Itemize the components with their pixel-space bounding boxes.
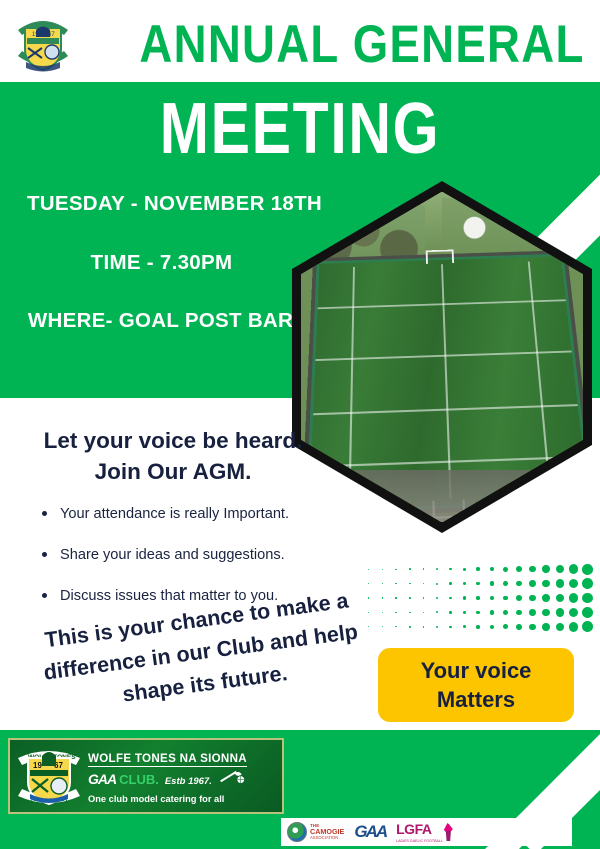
halftone-dot — [423, 597, 425, 599]
svg-text:19: 19 — [33, 761, 42, 770]
page-title-line1: ANNUAL GENERAL — [139, 18, 500, 72]
halftone-dot — [449, 611, 452, 614]
sponsor-lgfa-sub: LADIES GAELIC FOOTBALL — [396, 839, 443, 843]
halftone-dot — [423, 568, 425, 570]
halftone-dot — [409, 568, 411, 570]
halftone-dot — [368, 626, 369, 627]
halftone-dot — [409, 583, 411, 585]
cta-line-1: Your voice — [421, 656, 532, 685]
sponsor-lgfa-label: LGFA — [396, 821, 431, 837]
halftone-dot — [382, 626, 383, 627]
camogie-icon — [287, 822, 307, 842]
halftone-dot — [395, 583, 396, 584]
halftone-dot — [463, 611, 466, 614]
halftone-dot — [476, 611, 480, 615]
halftone-dot — [449, 568, 452, 571]
halftone-dot — [542, 623, 549, 630]
halftone-dot — [490, 581, 494, 585]
halftone-dot — [382, 569, 383, 570]
halftone-dot — [463, 596, 466, 599]
gaa-wordmark: GAA — [88, 771, 116, 787]
halftone-dot — [436, 611, 438, 613]
halftone-dot — [490, 567, 494, 571]
halftone-dot — [556, 623, 564, 631]
halftone-dot — [409, 597, 411, 599]
lead-line-1: Let your voice be heard. — [8, 425, 338, 456]
halftone-dot — [436, 583, 438, 585]
halftone-dot — [516, 595, 522, 601]
halftone-dot — [542, 580, 549, 587]
agm-poster: 19 67 ANNUAL GENERAL MEETING TUESDAY - N… — [0, 0, 600, 849]
halftone-dot — [529, 609, 536, 616]
wolfe-tones-crest-icon: 19 67 — [12, 8, 74, 78]
hurley-and-sliotar-icon — [217, 770, 247, 789]
sponsor-gaa-label: GAA — [354, 822, 386, 842]
halftone-dot — [569, 593, 579, 603]
halftone-dot — [449, 597, 452, 600]
halftone-dot — [409, 612, 411, 614]
halftone-dot — [529, 566, 536, 573]
halftone-dot — [423, 583, 425, 585]
svg-text:19: 19 — [32, 32, 39, 38]
your-voice-matters-badge: Your voice Matters — [378, 648, 574, 722]
lead-line-2: Join Our AGM. — [8, 456, 338, 487]
list-item: Your attendance is really Important. — [38, 505, 358, 523]
wolfe-tones-crest-icon: WOLFE TONES NA SIONNA 19 67 — [12, 742, 86, 810]
halftone-dot — [582, 621, 593, 632]
halftone-dot — [516, 624, 522, 630]
halftone-dot — [409, 626, 411, 628]
club-text: WOLFE TONES NA SIONNA GAA CLUB. Estb 196… — [86, 749, 282, 804]
sponsor-camogie-association: THE CAMOGIE ASSOCIATION — [287, 821, 344, 843]
halftone-dot — [503, 581, 508, 586]
halftone-dot — [490, 596, 494, 600]
halftone-dot — [423, 626, 425, 628]
halftone-dot — [436, 568, 438, 570]
halftone-dot — [463, 625, 466, 628]
sponsor-gaa: GAA — [354, 821, 386, 843]
halftone-dot — [436, 597, 438, 599]
lgfa-player-icon — [444, 823, 453, 841]
club-tagline: One club model catering for all — [88, 794, 278, 804]
halftone-dot — [395, 626, 396, 627]
halftone-dot — [556, 594, 564, 602]
halftone-dot — [529, 580, 536, 587]
halftone-dot — [368, 569, 369, 570]
sponsor-lgfa: LGFA LADIES GAELIC FOOTBALL — [396, 821, 453, 843]
halftone-dot — [529, 595, 536, 602]
club-banner: WOLFE TONES NA SIONNA 19 67 WOLFE TONES … — [8, 738, 284, 814]
halftone-dot — [569, 608, 579, 618]
halftone-dot — [436, 626, 438, 628]
halftone-dot — [490, 625, 494, 629]
halftone-dot — [476, 596, 480, 600]
club-word: CLUB. — [119, 772, 159, 787]
halftone-dot — [516, 610, 522, 616]
halftone-dot — [382, 583, 383, 584]
halftone-dot — [476, 582, 480, 586]
halftone-dot — [463, 568, 466, 571]
halftone-dot — [516, 581, 522, 587]
halftone-dot — [449, 626, 452, 629]
halftone-dot — [368, 612, 369, 613]
halftone-dot — [382, 612, 383, 613]
list-item: Share your ideas and suggestions. — [38, 546, 358, 564]
halftone-dot — [503, 596, 508, 601]
halftone-dot — [542, 609, 549, 616]
halftone-dot — [423, 612, 425, 614]
halftone-dot-pattern — [362, 562, 594, 634]
club-established: Estb 1967. — [165, 776, 212, 787]
cta-line-2: Matters — [421, 685, 532, 714]
halftone-dot — [503, 624, 508, 629]
halftone-dot — [582, 578, 593, 589]
halftone-dot — [382, 597, 383, 598]
halftone-dot — [368, 597, 369, 598]
svg-text:67: 67 — [48, 32, 55, 38]
halftone-dot — [542, 594, 549, 601]
halftone-dot — [556, 565, 564, 573]
halftone-dot — [476, 567, 480, 571]
sponsor-logos-strip: THE CAMOGIE ASSOCIATION GAA LGFA LADIES … — [281, 818, 572, 846]
halftone-dot — [556, 608, 564, 616]
lead-heading: Let your voice be heard. Join Our AGM. — [8, 425, 338, 487]
halftone-dot — [582, 593, 593, 604]
halftone-dot — [395, 569, 396, 570]
halftone-dot — [476, 625, 480, 629]
halftone-dot — [542, 565, 549, 572]
halftone-dot — [449, 582, 452, 585]
halftone-dot — [582, 607, 593, 618]
halftone-dot — [516, 566, 522, 572]
halftone-dot — [368, 583, 369, 584]
halftone-dot — [395, 597, 396, 598]
halftone-dot — [503, 567, 508, 572]
halftone-dot — [490, 610, 494, 614]
halftone-dot — [582, 564, 593, 575]
halftone-dot — [556, 579, 564, 587]
halftone-dot — [569, 579, 579, 589]
halftone-dot — [503, 610, 508, 615]
halftone-dot — [395, 612, 396, 613]
halftone-dot — [529, 624, 536, 631]
club-name: WOLFE TONES NA SIONNA — [88, 752, 247, 767]
halftone-dot — [569, 564, 579, 574]
halftone-dot — [463, 582, 466, 585]
page-title-line2: MEETING — [54, 92, 546, 166]
halftone-dot — [569, 622, 579, 632]
